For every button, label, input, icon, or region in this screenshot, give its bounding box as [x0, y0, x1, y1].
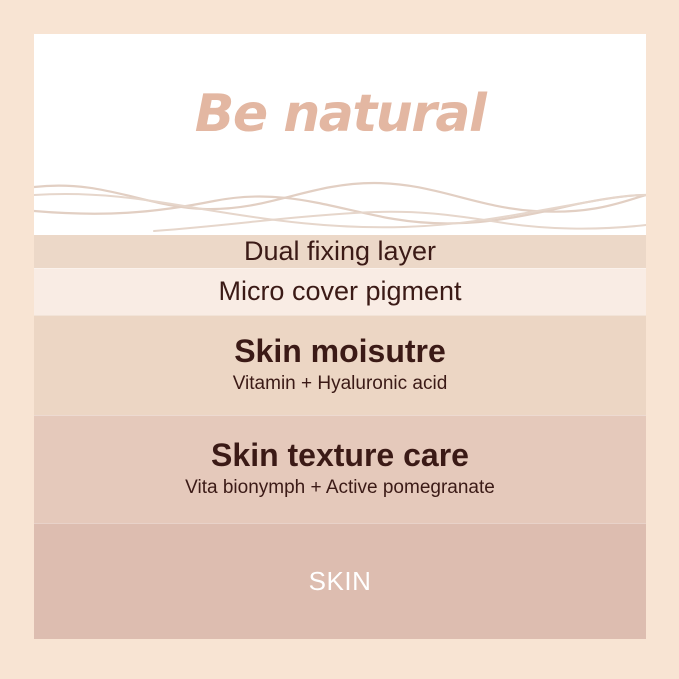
layer-title: Dual fixing layer — [244, 237, 436, 267]
page-title: Be natural — [34, 88, 646, 140]
layer-title: Skin moisutre — [234, 334, 446, 369]
layer-band-micro-cover: Micro cover pigment — [34, 268, 646, 315]
layer-band-skin: SKIN — [34, 523, 646, 639]
layer-band-skin-moisture: Skin moisutre Vitamin + Hyaluronic acid — [34, 315, 646, 415]
hero-section: Be natural — [34, 34, 646, 235]
decorative-wave-lines — [34, 173, 646, 235]
infographic-card: Be natural Dual fixing layer Micro cover… — [34, 34, 646, 639]
layer-subtitle: Vita bionymph + Active pomegranate — [185, 477, 495, 500]
layer-title: Skin texture care — [211, 438, 469, 473]
layer-band-skin-texture-care: Skin texture care Vita bionymph + Active… — [34, 415, 646, 523]
layer-title: SKIN — [309, 567, 372, 596]
layer-subtitle: Vitamin + Hyaluronic acid — [233, 373, 448, 396]
layer-band-dual-fixing: Dual fixing layer — [34, 235, 646, 268]
product-infographic-poster: Be natural Dual fixing layer Micro cover… — [0, 0, 679, 679]
layer-title: Micro cover pigment — [218, 277, 461, 307]
